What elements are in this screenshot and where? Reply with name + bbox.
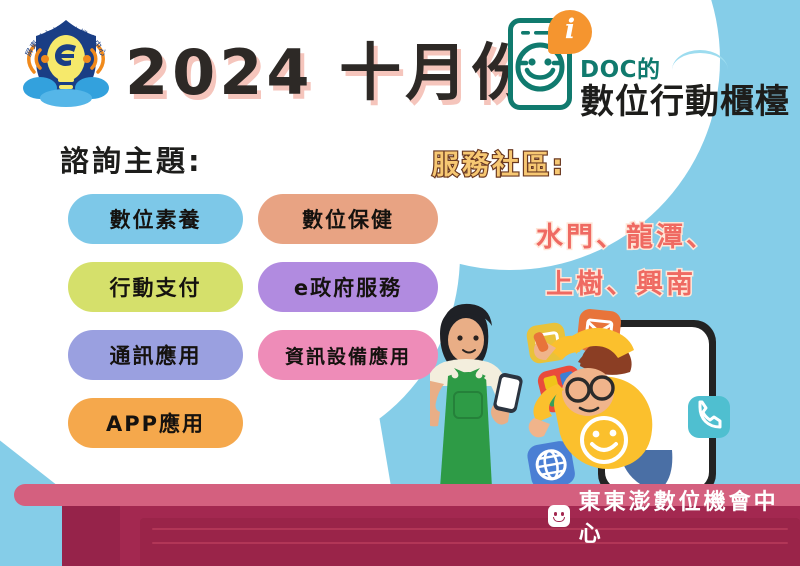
logo-ring-text: 屏東縣內埔數位機會中心	[24, 24, 108, 58]
footer-label: 東東澎數位機會中心	[579, 484, 800, 548]
doc-smiley-icon	[548, 505, 570, 527]
topic-pill[interactable]: 行動支付	[68, 262, 243, 312]
info-glyph: i	[548, 14, 592, 45]
doc-center-logo: 屏東縣內埔數位機會中心	[14, 8, 118, 116]
topic-pill[interactable]: 資訊設備應用	[258, 330, 438, 380]
topic-pill-label: e政府服務	[294, 272, 402, 302]
desk-left-leg	[62, 504, 120, 566]
topic-pill[interactable]: APP應用	[68, 398, 243, 448]
poster-title: 2024 十月份	[125, 22, 537, 112]
doc-swoosh-decoration	[672, 50, 728, 70]
topic-pill[interactable]: 數位保健	[258, 194, 438, 244]
svg-text:屏東縣內埔數位機會中心: 屏東縣內埔數位機會中心	[24, 24, 108, 58]
topics-heading: 諮詢主題:	[60, 138, 203, 180]
service-community-line-1: 水門、龍潭、	[536, 215, 716, 254]
doc-main-label: 數位行動櫃檯	[580, 74, 790, 123]
topic-pill-label: 行動支付	[110, 272, 202, 302]
logo-ring-label: 屏東縣內埔數位機會中心	[14, 8, 118, 112]
topic-pill[interactable]: 通訊應用	[68, 330, 243, 380]
topic-pill-label: 資訊設備應用	[285, 342, 411, 369]
topic-pill-label: APP應用	[106, 408, 205, 438]
footer-brand: 東東澎數位機會中心	[548, 484, 800, 548]
topic-pill-label: 數位保健	[302, 204, 394, 234]
topic-pill-label: 數位素養	[110, 204, 202, 234]
topic-pill[interactable]: e政府服務	[258, 262, 438, 312]
woman-figure	[430, 304, 524, 502]
service-heading: 服務社區:	[432, 143, 566, 182]
topic-pill[interactable]: 數位素養	[68, 194, 243, 244]
info-bubble-icon: i	[548, 10, 592, 54]
poster-canvas: 屏東縣內埔數位機會中心 2024 十月份 i DOC的 數位行動櫃檯	[0, 0, 800, 566]
doc-brand-block: i DOC的 數位行動櫃檯	[500, 8, 800, 126]
phone-icon	[688, 396, 730, 438]
topic-pill-label: 通訊應用	[110, 340, 202, 370]
